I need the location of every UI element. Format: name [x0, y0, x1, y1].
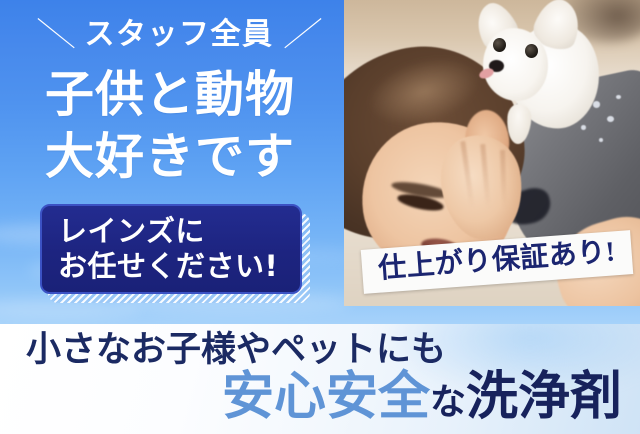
promo-banner: 仕上がり保証あり! ＼ スタッフ全員 ／ 子供と動物 大好きです レインズに お… — [0, 0, 640, 434]
cta-line-2: お任せください! — [58, 249, 300, 284]
slash-right-icon: ／ — [282, 18, 322, 51]
kicker: ＼ スタッフ全員 ／ — [34, 19, 324, 50]
photo-shirt-speck — [593, 101, 601, 108]
slash-left-icon: ＼ — [36, 18, 76, 51]
bottom-band: 小さなお子様やペットにも 安心安全な洗浄剤 — [0, 324, 640, 434]
bottom-tagline-line-1: 小さなお子様やペットにも — [26, 332, 446, 367]
cta-box[interactable]: レインズに お任せください! — [40, 204, 302, 294]
bottom-tagline-particle: な — [430, 382, 466, 422]
bottom-tagline-highlight: 安心安全 — [222, 369, 430, 426]
kicker-label: スタッフ全員 — [85, 20, 274, 50]
photo-shirt-speck — [599, 138, 603, 142]
headline-line-1: 子供と動物 — [0, 64, 340, 126]
bottom-tagline-line-2: 安心安全な洗浄剤 — [222, 372, 622, 424]
bottom-tagline-suffix: 洗浄剤 — [466, 369, 622, 426]
headline-line-2: 大好きです — [0, 126, 340, 188]
cta-callout[interactable]: レインズに お任せください! — [40, 204, 302, 294]
cta-line-1: レインズに — [58, 214, 300, 249]
headline: 子供と動物 大好きです — [0, 64, 340, 187]
photo-puppy-eye — [525, 44, 538, 58]
photo-shirt-speck — [607, 116, 614, 122]
